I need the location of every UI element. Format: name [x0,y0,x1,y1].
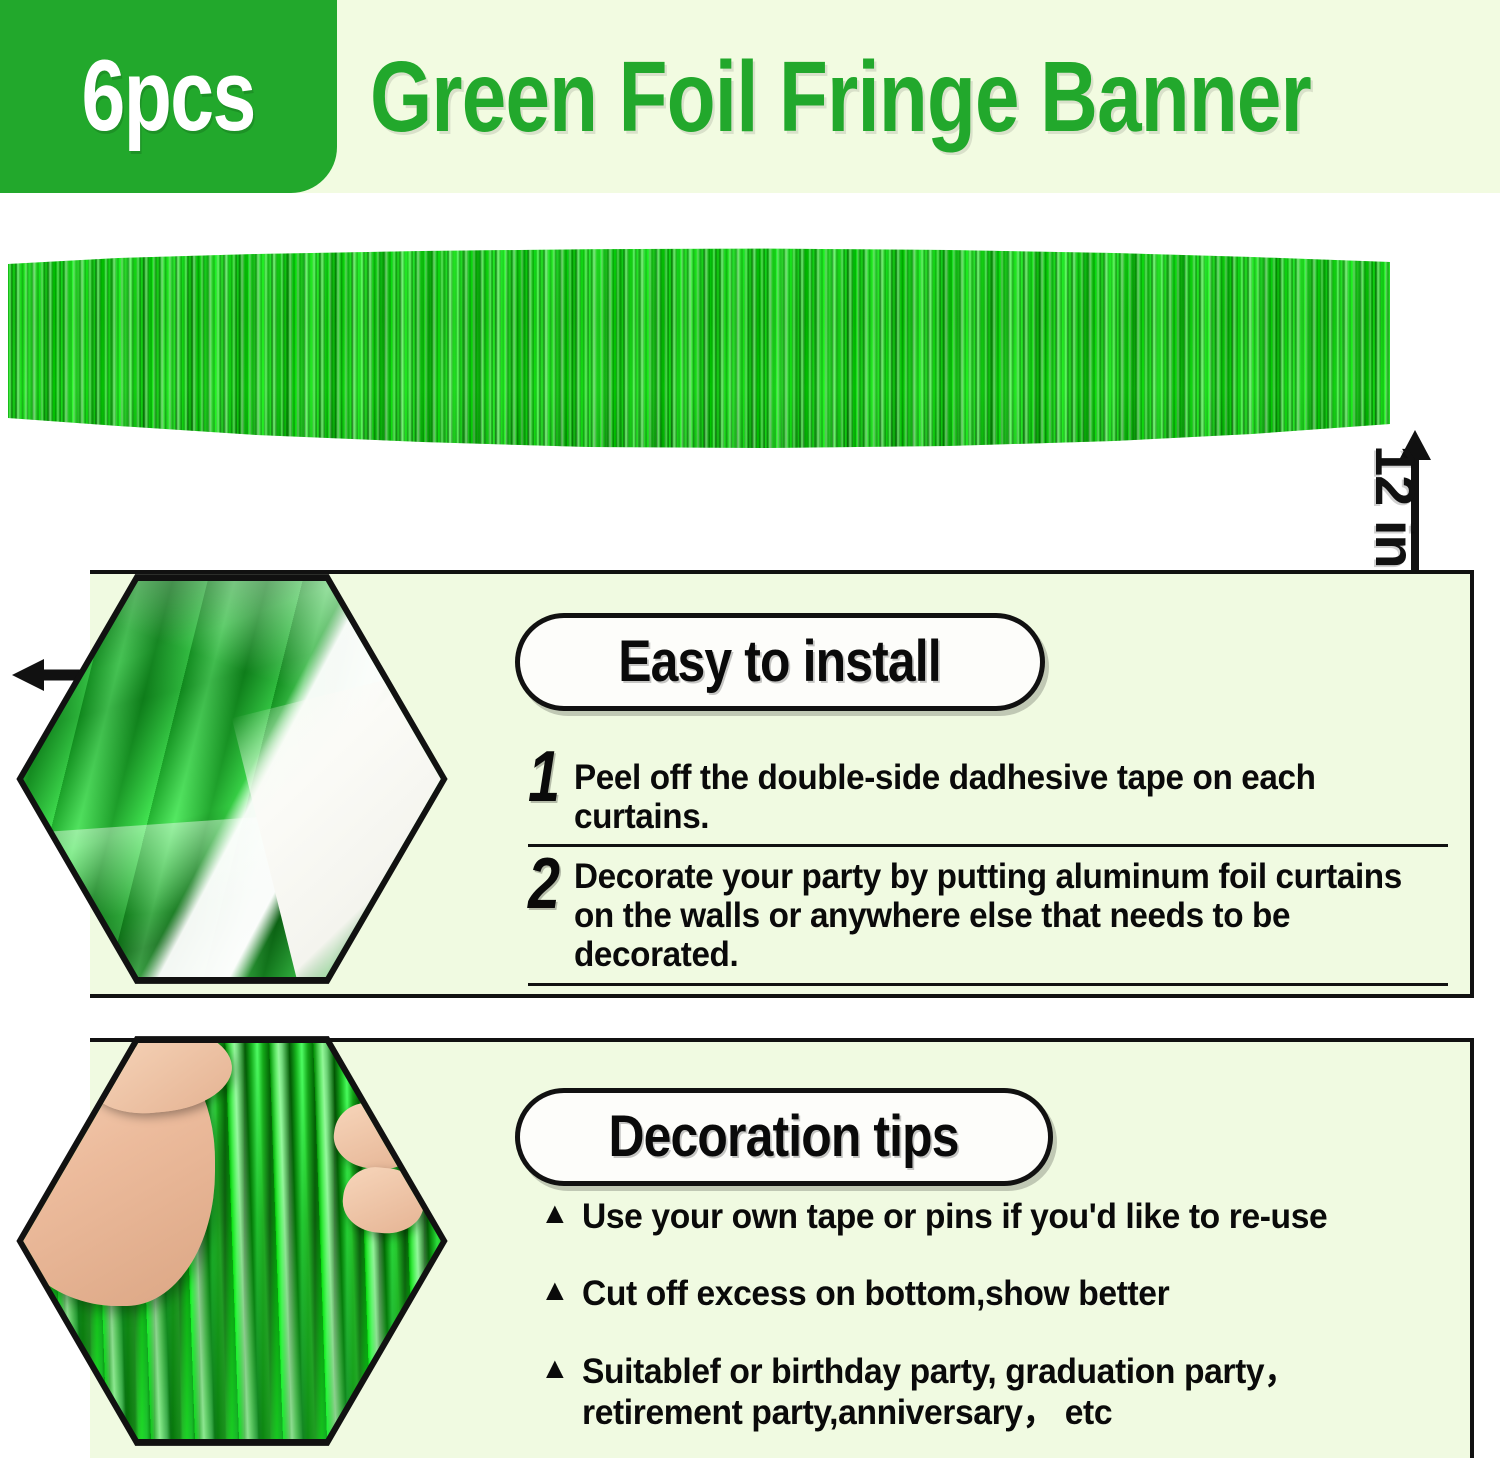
header-band: 6pcs Green Foil Fringe Banner [0,0,1500,193]
hexagon-photo-clip [19,1039,445,1443]
photo-foil-adhesive-tape [19,577,445,981]
tip-item-text: Cut off excess on bottom,show better [582,1273,1169,1314]
tip-item-text: Suitablef or birthday party, graduation … [582,1351,1425,1434]
install-step-1: 1 Peel off the double-side dadhesive tap… [528,748,1448,847]
banner-product-photo [8,248,1390,448]
decoration-tips-list: ▲ Use your own tape or pins if you'd lik… [540,1196,1460,1458]
fringe-foil-highlights [8,248,1390,448]
install-step-1-text: Peel off the double-side dadhesive tape … [574,748,1404,836]
hexagon-photo-clip [19,577,445,981]
page-title-text: Green Foil Fringe Banner [370,47,1311,147]
install-step-2-number: 2 [528,855,560,914]
triangle-bullet-icon: ▲ [540,1273,570,1309]
photo-hand-holding-fringe [19,1039,445,1443]
height-dimension-label: 12 in [1363,445,1428,568]
tip-item: ▲ Use your own tape or pins if you'd lik… [540,1196,1460,1237]
tip-item-text: Use your own tape or pins if you'd like … [582,1196,1327,1237]
pill-heading-tips-label: Decoration tips [609,1108,959,1166]
product-infographic: 6pcs Green Foil Fringe Banner 12 in 10 f… [0,0,1500,1458]
install-step-2: 2 Decorate your party by putting aluminu… [528,855,1448,986]
triangle-bullet-icon: ▲ [540,1351,570,1387]
tip-item: ▲ Suitablef or birthday party, graduatio… [540,1351,1460,1434]
tip-item: ▲ Cut off excess on bottom,show better [540,1273,1460,1314]
pill-heading-install: Easy to install [515,613,1045,711]
pill-heading-install-label: Easy to install [619,633,942,691]
page-title: Green Foil Fringe Banner [370,0,1500,193]
quantity-badge-label: 6pcs [82,46,255,147]
triangle-bullet-icon: ▲ [540,1196,570,1232]
install-step-2-text: Decorate your party by putting aluminum … [574,855,1404,975]
hexagon-photo-install [12,570,452,988]
hexagon-photo-tips [12,1032,452,1450]
install-step-1-number: 1 [528,748,560,807]
pill-heading-tips: Decoration tips [515,1088,1053,1186]
quantity-badge: 6pcs [0,0,337,193]
hero-product-section: 12 in 10 ft [0,200,1500,550]
